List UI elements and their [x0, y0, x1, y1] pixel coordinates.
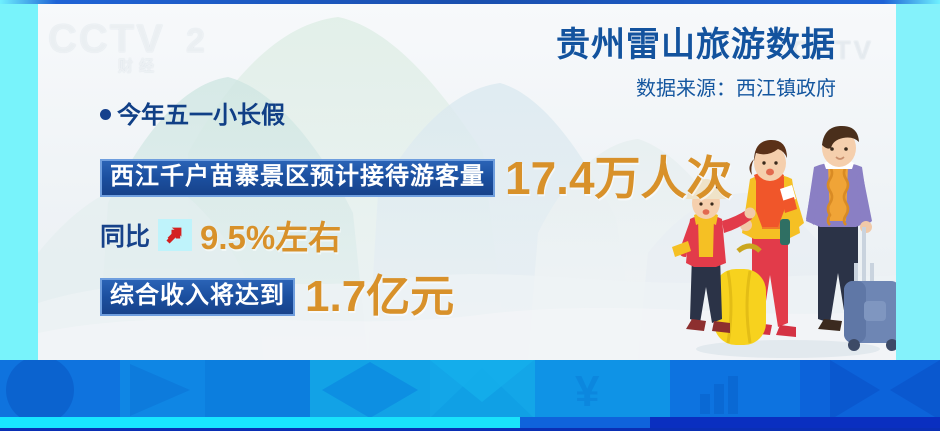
visitors-value: 17.4万人次 [505, 155, 733, 201]
top-accent-line [0, 0, 940, 4]
revenue-badge: 综合收入将达到 [100, 278, 295, 316]
yoy-row: 同比 9.5%左右 [100, 211, 341, 259]
period-label-text: 今年五一小长假 [117, 102, 285, 129]
revenue-value: 1.7亿元 [305, 275, 454, 319]
bullet-dot-icon [100, 109, 111, 120]
left-cyan-strip [0, 3, 38, 360]
up-arrow-icon [158, 219, 192, 251]
svg-text:¥: ¥ [575, 367, 600, 416]
page-title: 贵州雷山旅游数据 [556, 27, 836, 64]
footer-decorative-bar: ¥ [0, 360, 940, 431]
data-source-label: 数据来源：西江镇政府 [556, 72, 836, 101]
yoy-value: 9.5%左右 [200, 211, 341, 259]
period-label: 今年五一小长假 [100, 95, 285, 130]
visitors-row: 西江千户苗寨景区预计接待游客量 17.4万人次 [100, 155, 733, 201]
infographic-card: CCTV 2 财经 CCTV 贵州雷山旅游数据 数据来源：西江镇政府 今年五一小… [38, 3, 896, 360]
visitors-badge: 西江千户苗寨景区预计接待游客量 [100, 159, 495, 197]
right-cyan-strip [896, 3, 940, 360]
title-block: 贵州雷山旅游数据 数据来源：西江镇政府 [556, 27, 836, 101]
yoy-label: 同比 [100, 217, 150, 253]
cctv-news-graphic: CCTV 2 财经 CCTV 贵州雷山旅游数据 数据来源：西江镇政府 今年五一小… [0, 0, 940, 431]
revenue-row: 综合收入将达到 1.7亿元 [100, 275, 454, 319]
